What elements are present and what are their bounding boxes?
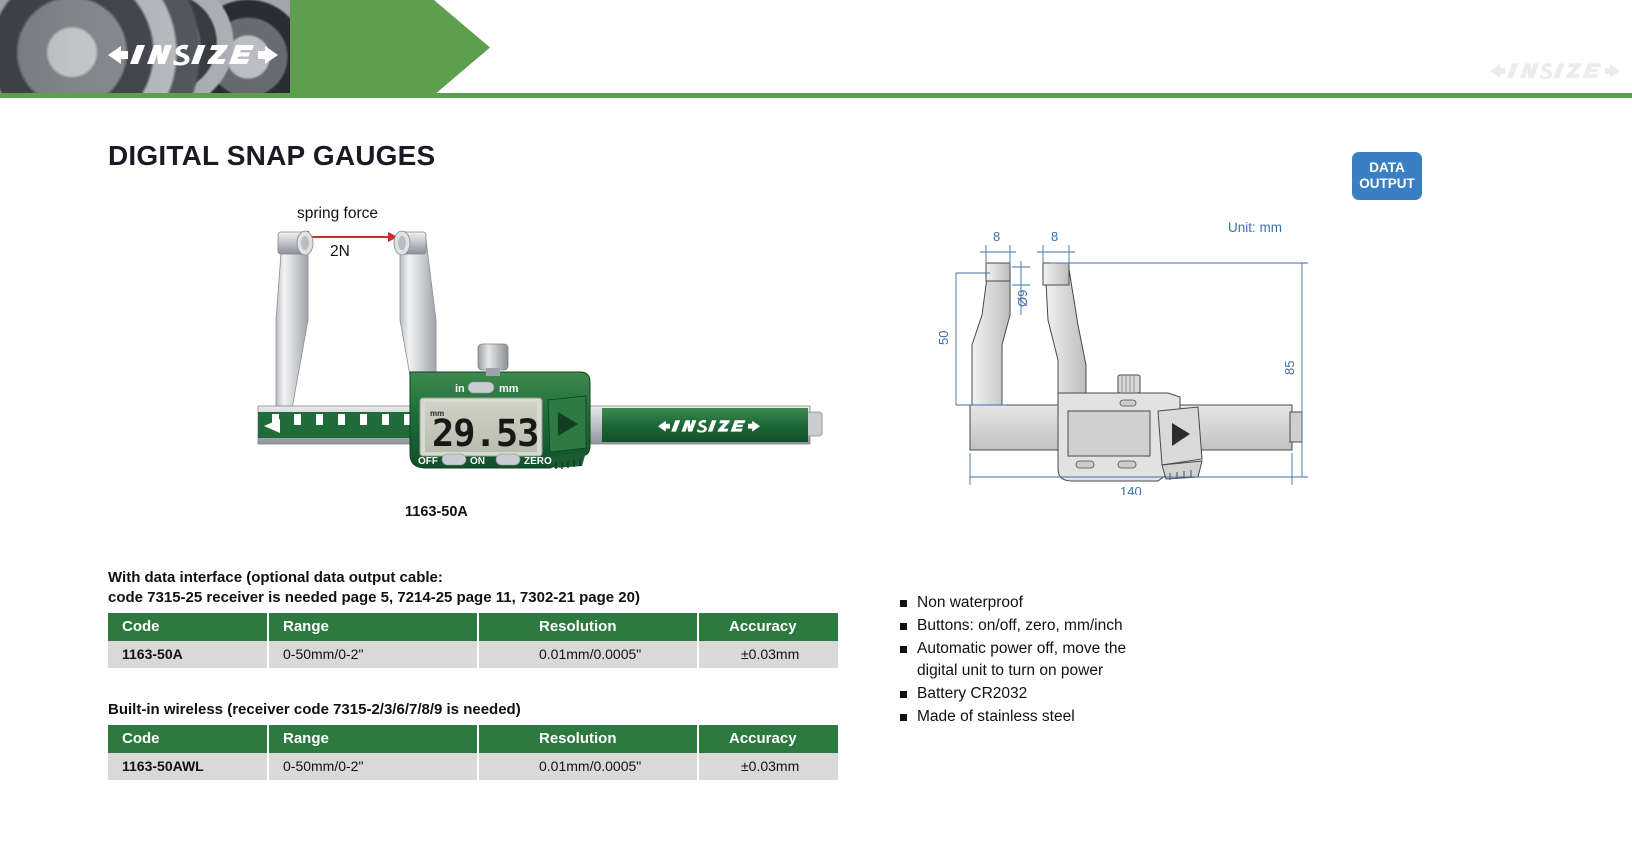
header-divider	[0, 93, 1632, 98]
badge-line-2: OUTPUT	[1359, 176, 1415, 192]
spec-heading: Built-in wireless (receiver code 7315-2/…	[108, 700, 838, 720]
dim-tip-left: 8	[993, 229, 1000, 244]
button-zero-label: ZERO	[524, 456, 552, 467]
button-on-label: ON	[470, 456, 485, 467]
product-model-label: 1163-50A	[405, 504, 468, 520]
list-item: Non waterproof	[900, 592, 1320, 614]
page-title: DIGITAL SNAP GAUGES	[108, 140, 435, 172]
list-item: Buttons: on/off, zero, mm/inch	[900, 615, 1320, 637]
spec-table: Code Range Resolution Accuracy 1163-50A …	[108, 613, 838, 668]
datasheet-page: DIGITAL SNAP GAUGES DATA OUTPUT	[0, 0, 1632, 853]
column-header-range: Range	[268, 725, 478, 753]
table-row: 1163-50AWL 0-50mm/0-2" 0.01mm/0.0005" ±0…	[108, 753, 838, 780]
square-bullet-icon	[900, 623, 907, 630]
column-header-accuracy: Accuracy	[698, 725, 838, 753]
feature-list: Non waterproof Buttons: on/off, zero, mm…	[900, 592, 1320, 729]
feature-text: Automatic power off, move the digital un…	[917, 638, 1126, 682]
insize-logo	[108, 38, 278, 72]
dim-tip-right: 8	[1051, 229, 1058, 244]
table-header-row: Code Range Resolution Accuracy	[108, 613, 838, 641]
cell-code: 1163-50AWL	[108, 753, 268, 780]
feature-text: Non waterproof	[917, 592, 1023, 614]
badge-line-1: DATA	[1369, 160, 1405, 176]
cell-range: 0-50mm/0-2"	[268, 641, 478, 668]
technical-drawing: 8 8 Ø9 50 85 140	[890, 215, 1320, 495]
cell-accuracy: ±0.03mm	[698, 753, 838, 780]
column-header-code: Code	[108, 613, 268, 641]
list-item: Battery CR2032	[900, 683, 1320, 705]
cell-code: 1163-50A	[108, 641, 268, 668]
spec-table: Code Range Resolution Accuracy 1163-50AW…	[108, 725, 838, 780]
dim-length: 140	[1120, 484, 1142, 495]
list-item: Made of stainless steel	[900, 706, 1320, 728]
list-item: Automatic power off, move the digital un…	[900, 638, 1320, 682]
column-header-accuracy: Accuracy	[698, 613, 838, 641]
dim-total-height: 85	[1282, 361, 1297, 375]
page-header	[0, 0, 1632, 98]
square-bullet-icon	[900, 691, 907, 698]
column-header-code: Code	[108, 725, 268, 753]
toggle-mm-label: mm	[499, 383, 519, 395]
spring-force-label: spring force	[297, 205, 378, 223]
insize-watermark	[1490, 58, 1620, 84]
cell-resolution: 0.01mm/0.0005"	[478, 641, 698, 668]
dim-jaw-height: 50	[936, 331, 951, 345]
spec-section-built-in-wireless: Built-in wireless (receiver code 7315-2/…	[108, 700, 838, 780]
square-bullet-icon	[900, 646, 907, 653]
cell-resolution: 0.01mm/0.0005"	[478, 753, 698, 780]
cell-range: 0-50mm/0-2"	[268, 753, 478, 780]
table-header-row: Code Range Resolution Accuracy	[108, 725, 838, 753]
dim-diameter: Ø9	[1015, 290, 1030, 307]
feature-text: Battery CR2032	[917, 683, 1027, 705]
toggle-in-label: in	[455, 383, 465, 395]
column-header-resolution: Resolution	[478, 613, 698, 641]
drawing-unit-label: Unit: mm	[1228, 220, 1282, 235]
square-bullet-icon	[900, 600, 907, 607]
table-row: 1163-50A 0-50mm/0-2" 0.01mm/0.0005" ±0.0…	[108, 641, 838, 668]
column-header-resolution: Resolution	[478, 725, 698, 753]
column-header-range: Range	[268, 613, 478, 641]
spec-section-data-interface: With data interface (optional data outpu…	[108, 568, 838, 668]
feature-text: Made of stainless steel	[917, 706, 1075, 728]
spec-heading: With data interface (optional data outpu…	[108, 568, 838, 608]
cell-accuracy: ±0.03mm	[698, 641, 838, 668]
header-green-arrow	[290, 0, 490, 95]
spring-force-value: 2N	[330, 243, 350, 261]
square-bullet-icon	[900, 714, 907, 721]
data-output-badge: DATA OUTPUT	[1352, 152, 1422, 200]
feature-text: Buttons: on/off, zero, mm/inch	[917, 615, 1123, 637]
lcd-reading: 29.53	[432, 412, 538, 455]
button-off-label: OFF	[418, 456, 438, 467]
